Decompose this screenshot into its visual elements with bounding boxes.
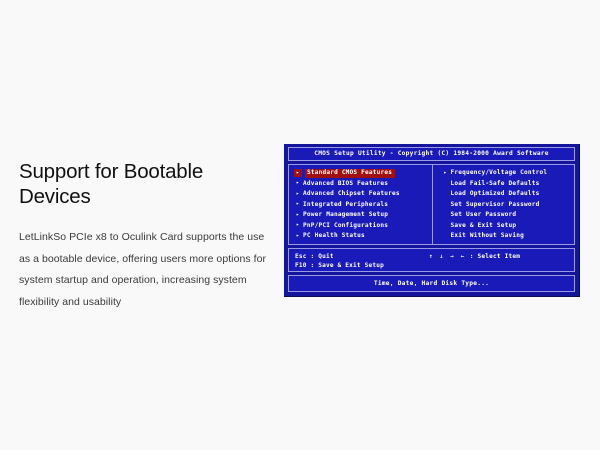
bios-status-text: Time, Date, Hard Disk Type... (374, 280, 489, 287)
bios-menu-item-load-fail-safe-defaults[interactable]: ▸ Load Fail-Safe Defaults (444, 179, 575, 188)
bios-menu-item-advanced-chipset-features[interactable]: ▸ Advanced Chipset Features (296, 190, 432, 199)
bios-menu-item-label: Set Supervisor Password (451, 202, 540, 208)
page-title: Support for Bootable Devices (19, 160, 269, 209)
bios-key-help-panel: Esc : Quit F10 : Save & Exit Setup ↑ ↓ →… (288, 248, 575, 272)
bios-menu-item-label: PC Health Status (303, 233, 365, 239)
bios-menu-item-pnp-pci-configurations[interactable]: ▸ PnP/PCI Configurations (296, 221, 432, 230)
bios-menu-item-label: Save & Exit Setup (451, 223, 517, 229)
bios-menu-item-pc-health-status[interactable]: ▸ PC Health Status (296, 232, 432, 241)
bios-menu-item-standard-cmos-features[interactable]: ▸ Standard CMOS Features (296, 169, 432, 178)
marketing-copy: Support for Bootable Devices LetLinkSo P… (19, 160, 269, 313)
bios-menu-column-right: ▸ Frequency/Voltage Control ▸ Load Fail-… (432, 165, 575, 244)
bios-menu-item-label: Load Fail-Safe Defaults (451, 181, 540, 187)
bios-menu-item-label: Power Management Setup (303, 212, 388, 218)
bios-menu-item-label: PnP/PCI Configurations (303, 223, 388, 229)
menu-arrow-icon: ▸ (444, 171, 448, 176)
bios-menu-panel: ▸ Standard CMOS Features ▸ Advanced BIOS… (288, 164, 575, 245)
bios-menu-item-label: Advanced BIOS Features (303, 181, 388, 187)
bios-menu-column-left: ▸ Standard CMOS Features ▸ Advanced BIOS… (289, 165, 432, 244)
bios-menu-item-set-user-password[interactable]: ▸ Set User Password (444, 211, 575, 220)
bios-title-bar: CMOS Setup Utility - Copyright (C) 1984-… (288, 147, 575, 161)
bios-menu-item-save-and-exit-setup[interactable]: ▸ Save & Exit Setup (444, 221, 575, 230)
menu-arrow-icon: ▸ (294, 169, 302, 177)
bios-menu-item-power-management-setup[interactable]: ▸ Power Management Setup (296, 211, 432, 220)
bios-menu-item-advanced-bios-features[interactable]: ▸ Advanced BIOS Features (296, 179, 432, 188)
bios-menu-item-integrated-peripherals[interactable]: ▸ Integrated Peripherals (296, 200, 432, 209)
bios-key-f10: F10 : Save & Exit Setup (295, 261, 574, 270)
bios-key-select-label: : Select Item (470, 253, 520, 260)
bios-menu-item-label: Set User Password (451, 212, 517, 218)
bios-menu-item-label: Standard CMOS Features (305, 169, 395, 178)
bios-menu-item-frequency-voltage-control[interactable]: ▸ Frequency/Voltage Control (444, 169, 575, 178)
bios-key-select-item: ↑ ↓ → ← : Select Item (429, 252, 520, 261)
menu-arrow-icon: ▸ (296, 223, 300, 228)
bios-menu-item-label: Advanced Chipset Features (303, 191, 400, 197)
bios-menu-item-load-optimized-defaults[interactable]: ▸ Load Optimized Defaults (444, 190, 575, 199)
bios-menu-item-exit-without-saving[interactable]: ▸ Exit Without Saving (444, 232, 575, 241)
menu-arrow-icon: ▸ (296, 192, 300, 197)
menu-arrow-icon: ▸ (296, 202, 300, 207)
bios-menu-item-label: Exit Without Saving (451, 233, 525, 239)
bios-status-panel: Time, Date, Hard Disk Type... (288, 275, 575, 292)
menu-arrow-icon: ▸ (296, 181, 300, 186)
bios-menu-item-set-supervisor-password[interactable]: ▸ Set Supervisor Password (444, 200, 575, 209)
arrow-keys-icon: ↑ ↓ → ← (429, 253, 466, 260)
bios-menu-item-label: Frequency/Voltage Control (451, 170, 548, 176)
bios-menu-item-label: Integrated Peripherals (303, 202, 388, 208)
menu-arrow-icon: ▸ (296, 213, 300, 218)
page-description: LetLinkSo PCIe x8 to Oculink Card suppor… (19, 227, 269, 313)
bios-menu-item-label: Load Optimized Defaults (451, 191, 540, 197)
menu-arrow-icon: ▸ (296, 234, 300, 239)
bios-setup-screen: CMOS Setup Utility - Copyright (C) 1984-… (284, 144, 580, 297)
